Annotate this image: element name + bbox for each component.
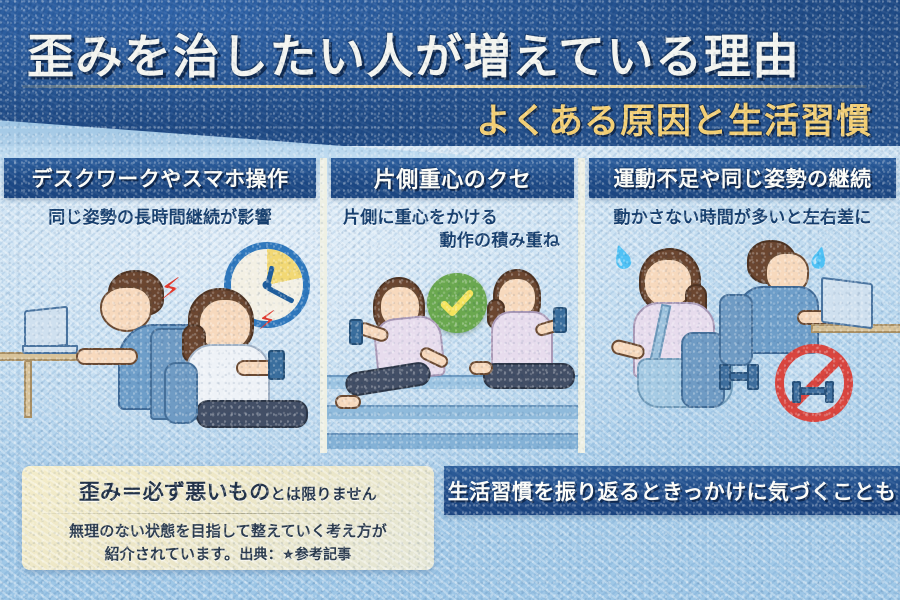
panel-3-subtitle: 動かさない時間が多いと左右差に (585, 198, 900, 232)
man-arm (76, 348, 138, 365)
note-card: 歪み＝必ず悪いものとは限りません 無理のない状態を目指して整えていく考え方が 紹… (22, 466, 434, 570)
panel-2-heading: 片側重心のクセ (374, 162, 532, 194)
right-woman-foot (469, 361, 493, 375)
smartphone-woman (268, 350, 285, 380)
panel-1-subtitle: 同じ姿勢の長時間継続が影響 (0, 198, 320, 232)
panel-3-heading: 運動不足や同じ姿勢の継続 (614, 163, 872, 193)
panel-3-heading-bar: 運動不足や同じ姿勢の継続 (589, 158, 896, 198)
header-banner: 歪みを治したい人が増えている理由 よくある原因と生活習慣 (0, 0, 900, 146)
title-divider (22, 85, 867, 88)
panel-2-subtitle-line1: 片側に重心をかける (343, 208, 498, 228)
woman-legs (196, 400, 308, 428)
panel-one-sided-weight: 片側重心のクセ 片側に重心をかける 動作の積み重ね (320, 158, 578, 453)
no-exercise-sign (775, 344, 853, 422)
note-divider (42, 513, 414, 514)
laptop-screen-3 (821, 277, 873, 329)
desk-leg (24, 360, 32, 418)
sweat-mark-man: 💧 (804, 243, 834, 272)
panel-lack-of-exercise: 運動不足や同じ姿勢の継続 動かさない時間が多いと左右差に 💧 💧 (578, 158, 900, 453)
sofa-arm (164, 362, 198, 424)
panel-1-heading-bar: デスクワークやスマホ操作 (4, 158, 316, 198)
dumbbell-bar (729, 372, 749, 381)
note-heading-strong: 歪み＝必ず悪いもの (79, 480, 271, 504)
bottom-message-text: 生活習慣を振り返るときっかけに気づくことも (448, 476, 897, 506)
laptop-keyboard (22, 345, 78, 354)
bottom-message-band: 生活習慣を振り返るときっかけに気づくことも (444, 466, 900, 515)
note-body-line1: 無理のない状態を目指して整えていく考え方が (36, 520, 420, 543)
dumbbell-weight-right (747, 364, 759, 390)
page-title: 歪みを治したい人が増えている理由 (27, 18, 801, 87)
panel-2-subtitle-line2: 動作の積み重ね (343, 230, 570, 253)
note-heading-rest: とは限りません (271, 485, 378, 503)
step-2 (327, 405, 578, 419)
left-woman-legs (344, 360, 433, 397)
panel-2-heading-bar: 片側重心のクセ (331, 158, 574, 198)
note-source: 出典：★参考記事 (239, 547, 351, 563)
sweat-mark-woman: 💧 (606, 242, 640, 274)
pain-mark-woman: ⚡ (258, 306, 276, 336)
page-subtitle: よくある原因と生活習慣 (476, 93, 872, 144)
pain-mark-man: ⚡ (160, 272, 181, 307)
panel-2-subtitle: 片側に重心をかける 動作の積み重ね (327, 198, 578, 255)
laptop-screen (24, 306, 68, 351)
step-3 (327, 433, 578, 449)
panel-1-heading: デスクワークやスマホ操作 (31, 163, 288, 193)
right-woman-legs (483, 363, 575, 389)
panel-desk-work: デスクワークやスマホ操作 同じ姿勢の長時間継続が影響 (0, 158, 320, 453)
left-woman-foot (335, 395, 361, 409)
panel-row: デスクワークやスマホ操作 同じ姿勢の長時間継続が影響 (0, 158, 900, 453)
note-body-text2: 紹介されています。 (104, 545, 239, 563)
note-body-line2: 紹介されています。出典：★参考記事 (36, 543, 420, 567)
smartphone-right (553, 307, 567, 333)
smartphone-left (349, 319, 363, 345)
office-chair (719, 294, 753, 366)
infographic-canvas: 歪みを治したい人が増えている理由 よくある原因と生活習慣 デスクワークやスマホ操… (0, 0, 900, 600)
note-heading: 歪み＝必ず悪いものとは限りません (36, 476, 420, 506)
